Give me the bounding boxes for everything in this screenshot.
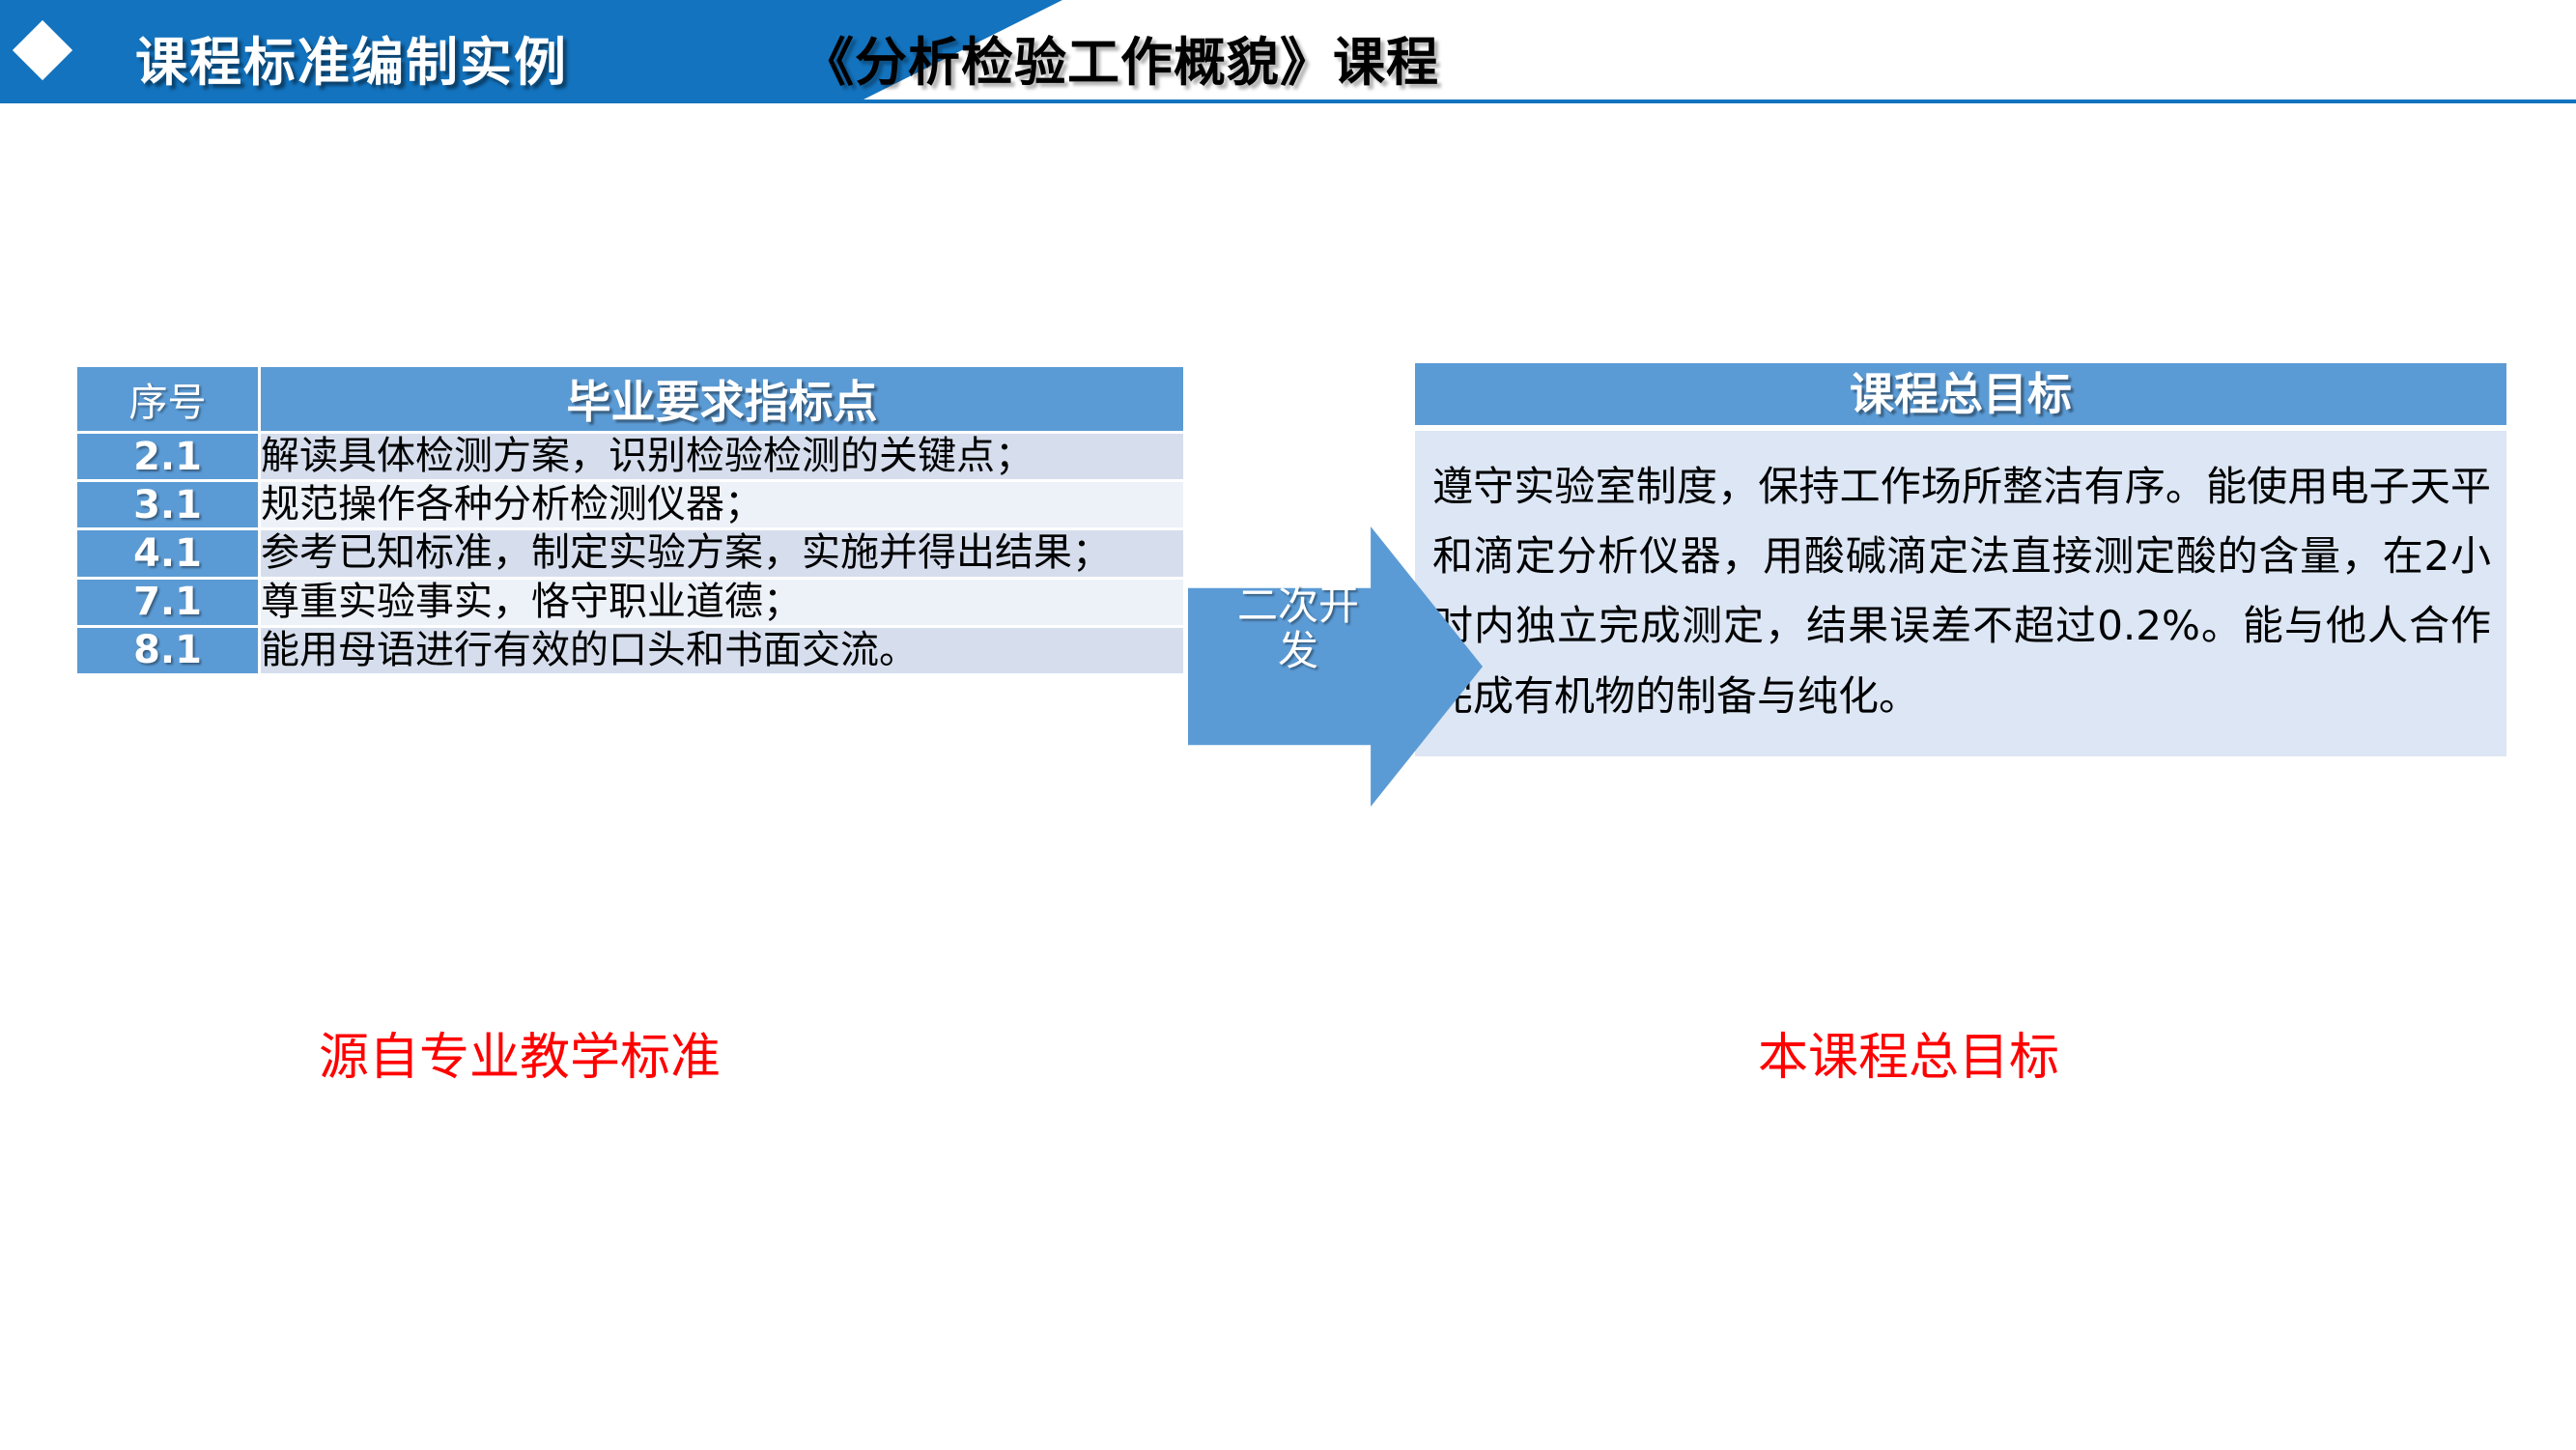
- course-goal-body: 遵守实验室制度，保持工作场所整洁有序。能使用电子天平和滴定分析仪器，用酸碱滴定法…: [1415, 431, 2506, 756]
- row-number: 2.1: [77, 431, 261, 479]
- course-goal-panel: 课程总目标 遵守实验室制度，保持工作场所整洁有序。能使用电子天平和滴定分析仪器，…: [1415, 363, 2506, 756]
- right-caption: 本课程总目标: [1758, 1016, 2059, 1089]
- row-text: 规范操作各种分析检测仪器；: [261, 479, 1183, 527]
- graduation-requirements-table: 序号 毕业要求指标点 2.1 解读具体检测方案，识别检验检测的关键点； 3.1 …: [77, 367, 1183, 673]
- row-number: 3.1: [77, 479, 261, 527]
- table-row: 8.1 能用母语进行有效的口头和书面交流。: [77, 625, 1183, 673]
- left-caption: 源自专业教学标准: [319, 1016, 721, 1089]
- table-row: 2.1 解读具体检测方案，识别检验检测的关键点；: [77, 431, 1183, 479]
- table-header-indicator: 毕业要求指标点: [261, 367, 1183, 431]
- row-number: 8.1: [77, 625, 261, 673]
- secondary-development-arrow: 二次开发: [1188, 526, 1483, 807]
- table-row: 3.1 规范操作各种分析检测仪器；: [77, 479, 1183, 527]
- row-number: 4.1: [77, 527, 261, 576]
- row-number: 7.1: [77, 577, 261, 625]
- row-text: 参考已知标准，制定实验方案，实施并得出结果；: [261, 527, 1183, 576]
- header-title-primary: 课程标准编制实例: [135, 19, 568, 96]
- row-text: 解读具体检测方案，识别检验检测的关键点；: [261, 431, 1183, 479]
- course-goal-header: 课程总目标: [1415, 363, 2506, 425]
- slide-header: 课程标准编制实例 《分析检验工作概貌》课程: [0, 0, 2576, 101]
- table-header-no: 序号: [77, 367, 261, 431]
- header-title-secondary: 《分析检验工作概貌》课程: [802, 19, 1439, 96]
- row-text: 能用母语进行有效的口头和书面交流。: [261, 625, 1183, 673]
- table-header-row: 序号 毕业要求指标点: [77, 367, 1183, 431]
- header-divider-rule: [0, 100, 2576, 103]
- table-row: 7.1 尊重实验事实，恪守职业道德；: [77, 577, 1183, 625]
- table-row: 4.1 参考已知标准，制定实验方案，实施并得出结果；: [77, 527, 1183, 576]
- row-text: 尊重实验事实，恪守职业道德；: [261, 577, 1183, 625]
- arrow-label: 二次开发: [1231, 583, 1366, 673]
